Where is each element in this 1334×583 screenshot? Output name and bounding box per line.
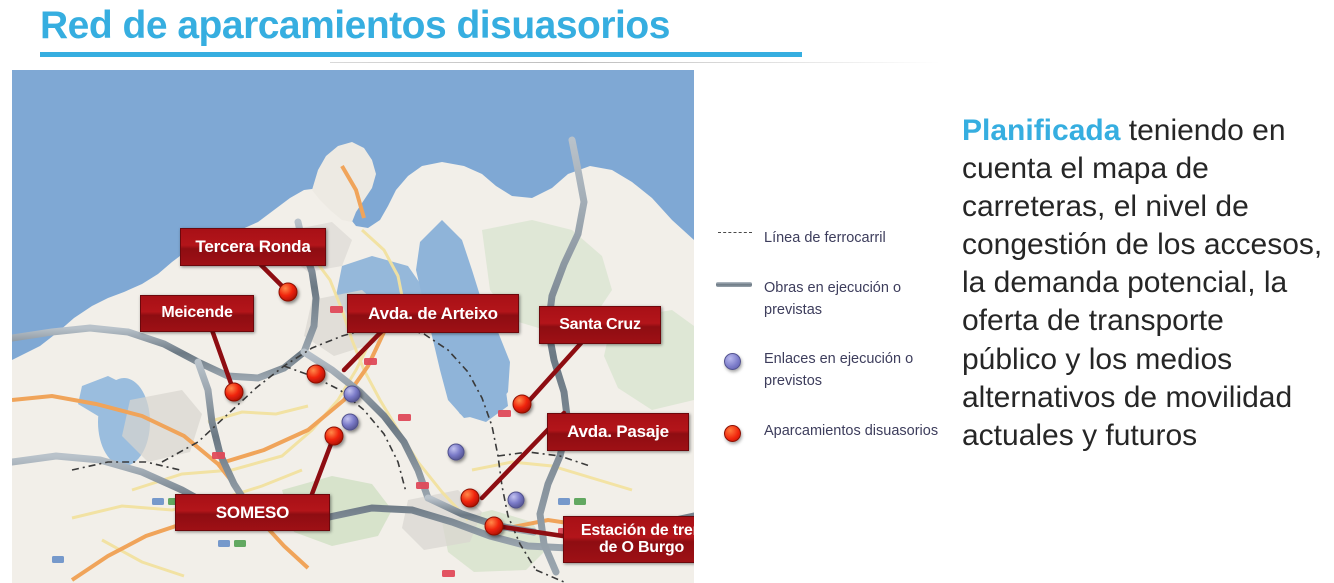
description-body: teniendo en cuenta el mapa de carreteras… [962,114,1322,452]
highlight-word: Planificada [962,114,1120,147]
red-dot-icon [712,421,764,442]
legend-item-enlaces: Enlaces en ejecución o previstos [712,349,950,393]
purple-dot-icon [712,349,764,370]
map-label-estacion-o-burgo[interactable]: Estación de tren de O Burgo [563,516,694,563]
solid-line-icon [712,278,764,287]
title-underline [40,52,802,57]
legend-label: Aparcamientos disuasorios [764,421,938,443]
map-label-someso[interactable]: SOMESO [175,494,330,531]
legend-label: Línea de ferrocarril [764,228,886,250]
map-label-tercera-ronda[interactable]: Tercera Ronda [180,228,326,266]
label-line-1: Estación de tren [581,522,694,539]
map-label-santa-cruz[interactable]: Santa Cruz [539,306,661,344]
map-label-avda-de-arteixo[interactable]: Avda. de Arteixo [347,294,519,333]
dashed-line-icon [712,228,764,233]
page-title: Red de aparcamientos disuasorios [40,4,670,48]
label-line-2: de O Burgo [599,539,684,556]
legend-label: Enlaces en ejecución o previstos [764,349,950,393]
legend-item-aparcamientos: Aparcamientos disuasorios [712,421,950,443]
slide-header: Red de aparcamientos disuasorios [0,0,960,70]
map-label-avda-pasaje[interactable]: Avda. Pasaje [547,413,689,451]
header-divider [330,62,940,63]
legend-item-ferrocarril: Línea de ferrocarril [712,228,950,250]
description-paragraph: Planificada teniendo en cuenta el mapa d… [962,112,1324,455]
legend-label: Obras en ejecución o previstas [764,278,950,322]
map-image[interactable]: Tercera Ronda Meicende Avda. de Arteixo … [12,70,694,583]
map-label-meicende[interactable]: Meicende [140,295,254,332]
legend-item-obras: Obras en ejecución o previstas [712,278,950,322]
map-legend: Línea de ferrocarril Obras en ejecución … [712,228,950,471]
